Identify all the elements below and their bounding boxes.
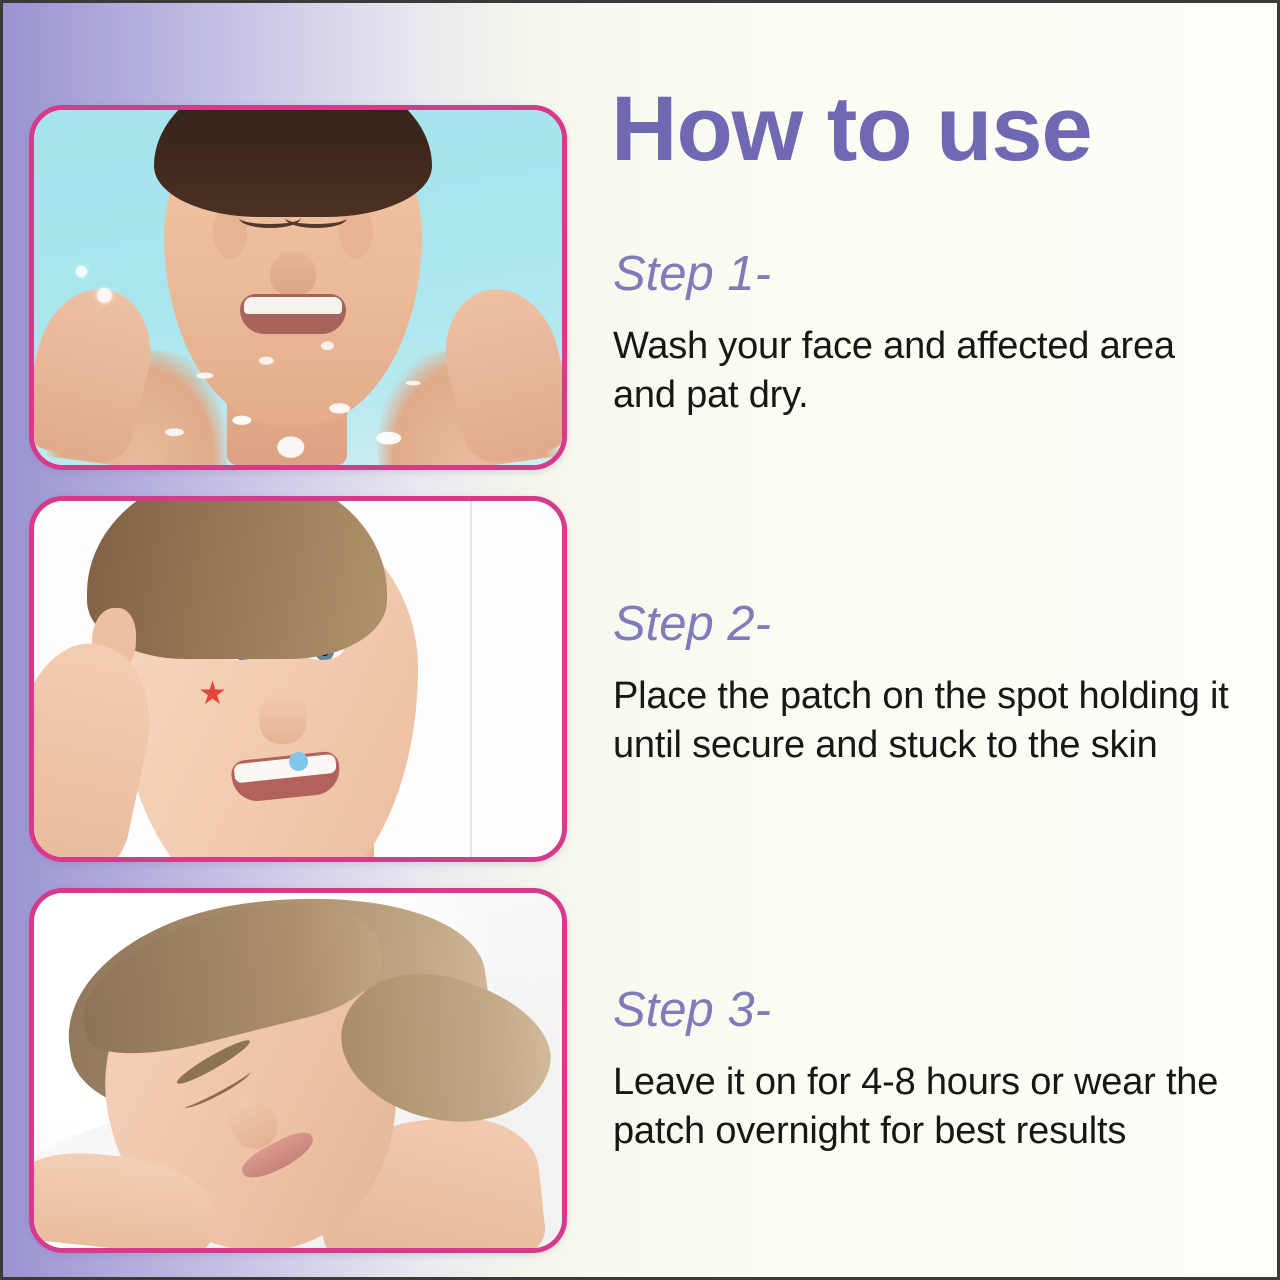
red-star-patch — [199, 680, 225, 706]
woman-washing-face-photo — [34, 110, 562, 465]
how-to-use-poster: How to use Step 1- Wash your face and af… — [0, 0, 1280, 1280]
water-droplet — [97, 288, 112, 303]
instructions-column: How to use Step 1- Wash your face and af… — [611, 83, 1251, 1253]
teeth — [234, 754, 337, 784]
step-3-label: Step 3- — [613, 985, 1243, 1036]
teeth — [244, 297, 342, 314]
photo-column — [29, 105, 567, 1253]
step-1-label: Step 1- — [613, 249, 1243, 300]
hair — [154, 110, 432, 217]
water-splash — [150, 316, 456, 465]
step-1-photo-card — [29, 105, 567, 470]
background-seam-line — [470, 501, 472, 856]
woman-sleeping-photo — [34, 893, 562, 1248]
step-2-block: Step 2- Place the patch on the spot hold… — [613, 599, 1243, 769]
page-title: How to use — [611, 83, 1251, 175]
step-3-description: Leave it on for 4-8 hours or wear the pa… — [613, 1058, 1243, 1155]
nose — [270, 251, 316, 295]
step-2-description: Place the patch on the spot holding it u… — [613, 672, 1243, 769]
mouth — [231, 751, 343, 804]
woman-applying-patch-photo — [34, 501, 562, 856]
step-3-block: Step 3- Leave it on for 4-8 hours or wea… — [613, 985, 1243, 1155]
nose — [259, 692, 307, 744]
step-1-block: Step 1- Wash your face and affected area… — [613, 249, 1243, 419]
step-2-photo-card — [29, 496, 567, 861]
step-1-description: Wash your face and affected area and pat… — [613, 322, 1243, 419]
step-3-photo-card — [29, 888, 567, 1253]
step-2-label: Step 2- — [613, 599, 1243, 650]
